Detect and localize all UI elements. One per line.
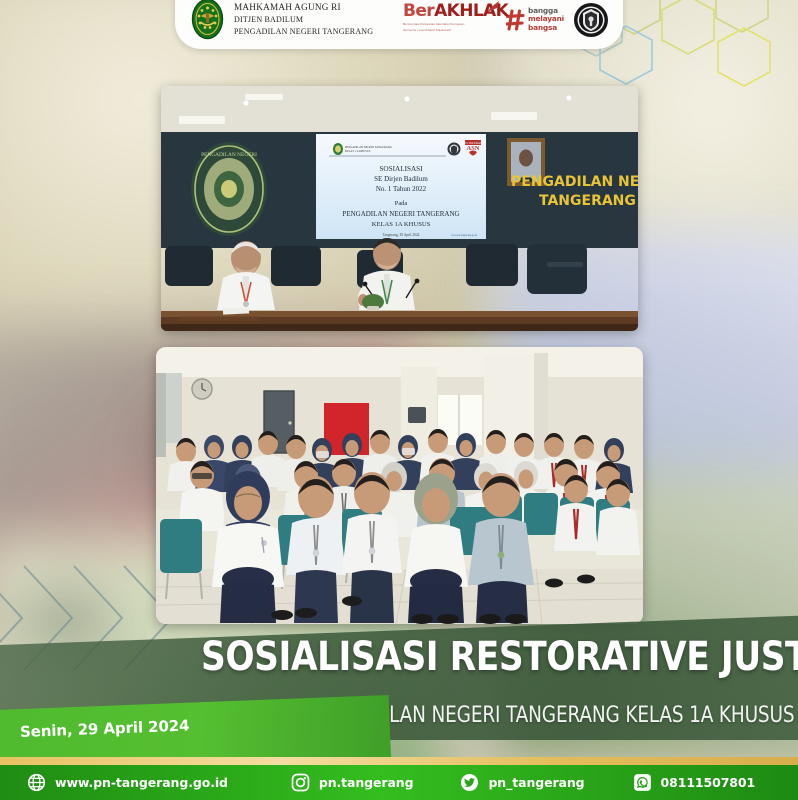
contact-footer: www.pn-tangerang.go.id pn.tangerang pn_t… bbox=[0, 765, 798, 800]
svg-text:Pada: Pada bbox=[395, 200, 408, 207]
institution-name-block: MAHKAMAH AGUNG RI DITJEN BADILUM PENGADI… bbox=[234, 1, 373, 38]
berakhlak-ber-text: Ber bbox=[403, 1, 434, 21]
svg-text:KELAS 1 A KHUSUS: KELAS 1 A KHUSUS bbox=[345, 150, 371, 153]
photo-speakers-at-head-table: PENGADILAN NEGERI PENGADILAN NEG TANGERA… bbox=[161, 86, 638, 331]
instagram-icon bbox=[291, 773, 310, 792]
hashtag-icon bbox=[506, 9, 525, 31]
berakhlak-tagline-1: Berorientasi Pelayanan Akuntabel Kompete… bbox=[403, 22, 497, 26]
berakhlak-swoosh-icon bbox=[486, 0, 500, 14]
poster-canvas: MAHKAMAH AGUNG RI DITJEN BADILUM PENGADI… bbox=[0, 0, 798, 800]
institution-line-2: DITJEN BADILUM bbox=[234, 14, 373, 26]
institution-seal-logo bbox=[573, 2, 609, 38]
whatsapp-icon bbox=[633, 773, 652, 792]
berakhlak-tagline-2: Harmonis Loyal Adaptif Kolaboratif bbox=[403, 28, 497, 32]
svg-text:SOSIALISASI: SOSIALISASI bbox=[379, 165, 423, 173]
partner-logo-group: BerAKHLAK Berorientasi Pelayanan Akuntab… bbox=[403, 2, 609, 38]
footer-website-label: www.pn-tangerang.go.id bbox=[55, 775, 228, 790]
footer-whatsapp[interactable]: 08111507801 bbox=[633, 773, 756, 792]
berakhlak-logo: BerAKHLAK Berorientasi Pelayanan Akuntab… bbox=[403, 3, 497, 37]
footer-instagram[interactable]: pn.tangerang bbox=[291, 773, 414, 792]
header-logo-bar: MAHKAMAH AGUNG RI DITJEN BADILUM PENGADI… bbox=[175, 0, 623, 49]
svg-text:www.pn-tangerang.go.id: www.pn-tangerang.go.id bbox=[451, 234, 477, 237]
svg-text:TANGERANG: TANGERANG bbox=[539, 193, 636, 209]
svg-text:PENGADILAN NEGERI TANGERANG: PENGADILAN NEGERI TANGERANG bbox=[345, 146, 392, 149]
footer-twitter-label: pn_tangerang bbox=[488, 775, 584, 790]
page-title: SOSIALISASI RESTORATIVE JUSTICE bbox=[201, 634, 751, 680]
mahkamah-agung-logo bbox=[191, 0, 224, 40]
photo-audience-seated bbox=[156, 347, 643, 624]
svg-text:PENGADILAN NEGERI TANGERANG: PENGADILAN NEGERI TANGERANG bbox=[342, 210, 459, 218]
footer-instagram-label: pn.tangerang bbox=[319, 775, 414, 790]
svg-text:PENGADILAN NEGERI: PENGADILAN NEGERI bbox=[201, 152, 257, 158]
svg-text:No. 1 Tahun 2022: No. 1 Tahun 2022 bbox=[376, 185, 427, 193]
footer-website[interactable]: www.pn-tangerang.go.id bbox=[27, 773, 228, 792]
bangga-melayani-bangsa-logo: bangga melayani bangsa bbox=[506, 7, 564, 32]
footer-whatsapp-label: 08111507801 bbox=[661, 775, 756, 790]
twitter-icon bbox=[460, 773, 479, 792]
institution-line-1: MAHKAMAH AGUNG RI bbox=[234, 1, 373, 14]
bangga-line-3: bangsa bbox=[528, 24, 564, 32]
globe-icon bbox=[27, 773, 46, 792]
svg-text:KELAS 1A KHUSUS: KELAS 1A KHUSUS bbox=[372, 221, 431, 228]
svg-text:PENGADILAN NEG: PENGADILAN NEG bbox=[511, 174, 638, 190]
institution-line-3: PENGADILAN NEGERI TANGERANG bbox=[234, 26, 373, 38]
footer-twitter[interactable]: pn_tangerang bbox=[460, 773, 584, 792]
svg-text:SE Dirjen Badilum: SE Dirjen Badilum bbox=[374, 175, 428, 183]
gold-divider bbox=[0, 757, 798, 765]
